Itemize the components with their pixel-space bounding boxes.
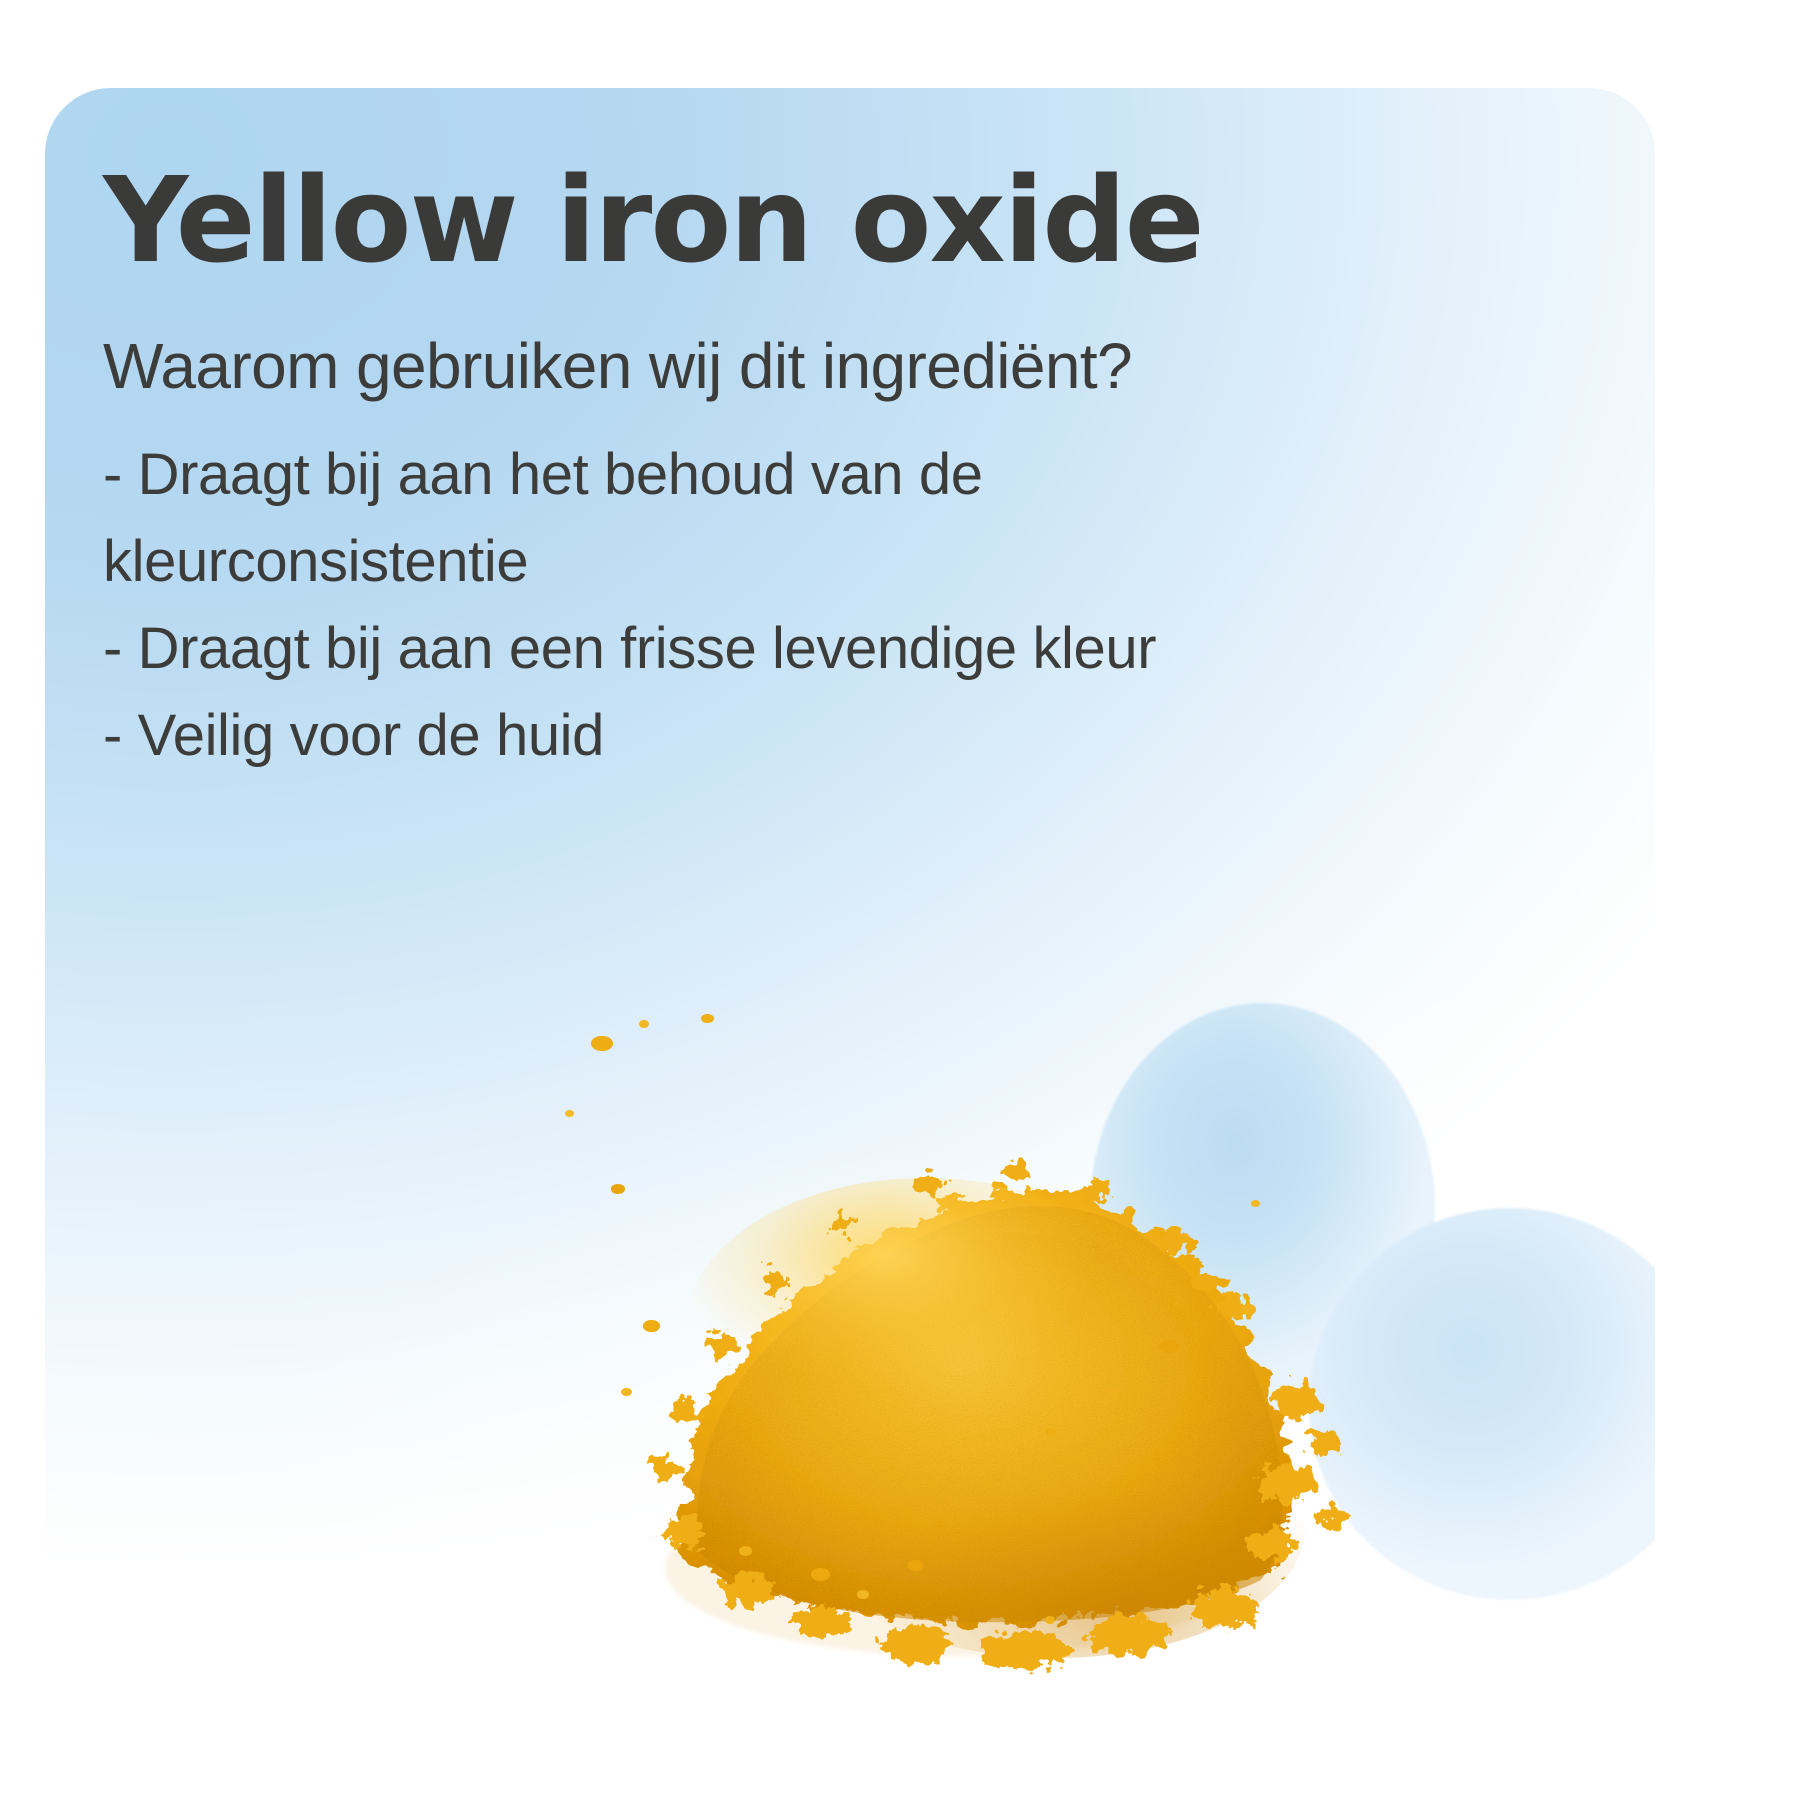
powder-speck <box>857 1590 869 1599</box>
ingredient-card: Yellow iron oxide Waarom gebruiken wij d… <box>45 88 1655 1710</box>
powder-speck <box>1045 1616 1055 1624</box>
powder-speck <box>739 1546 752 1556</box>
powder-pile-image <box>525 968 1385 1708</box>
powder-speck <box>1241 1304 1256 1315</box>
card-content: Yellow iron oxide Waarom gebruiken wij d… <box>103 160 1603 779</box>
powder-speck <box>907 1560 923 1571</box>
card-subtitle: Waarom gebruiken wij dit ingrediënt? <box>103 332 1603 401</box>
powder-speck <box>643 1320 660 1332</box>
powder-speck <box>591 1036 613 1051</box>
powder-speck <box>565 1110 574 1117</box>
powder-speck <box>701 1014 714 1023</box>
powder-speck <box>1251 1200 1260 1207</box>
powder-speck <box>1105 1388 1119 1398</box>
powder-speck <box>621 1388 632 1396</box>
list-item: - Draagt bij aan een frisse levendige kl… <box>103 605 1603 692</box>
page-title: Yellow iron oxide <box>103 160 1603 280</box>
page-root: Yellow iron oxide Waarom gebruiken wij d… <box>0 0 1800 1800</box>
powder-speck <box>639 1020 649 1028</box>
powder-speck <box>1191 1274 1217 1291</box>
powder-speck <box>1159 1340 1179 1353</box>
benefit-list: - Draagt bij aan het behoud van de kleur… <box>103 431 1603 779</box>
powder-speck <box>1045 1428 1056 1436</box>
list-item: - Veilig voor de huid <box>103 692 1603 779</box>
list-item: - Draagt bij aan het behoud van de <box>103 431 1603 518</box>
powder-speck <box>611 1184 625 1194</box>
list-item: kleurconsistentie <box>103 518 1603 605</box>
powder-speck <box>811 1568 830 1581</box>
